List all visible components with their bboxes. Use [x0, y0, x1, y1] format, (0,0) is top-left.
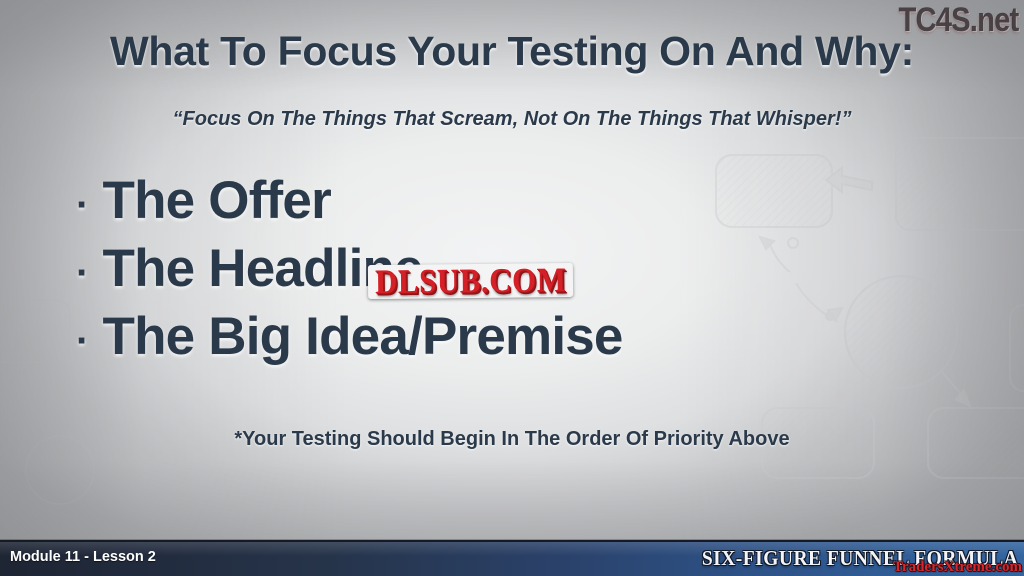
tc4s-watermark: TC4S.net [898, 1, 1018, 40]
list-item-label: The Big Idea/Premise [103, 306, 623, 367]
bullet-dot-icon: · [76, 185, 89, 225]
slide-footnote: *Your Testing Should Begin In The Order … [0, 428, 1024, 451]
module-lesson-label: Module 11 - Lesson 2 [10, 549, 156, 565]
list-item-label: The Offer [103, 170, 331, 231]
bullet-dot-icon: · [76, 253, 89, 293]
list-item: · The Offer [76, 170, 936, 238]
slide-subtitle-quote: “Focus On The Things That Scream, Not On… [0, 108, 1024, 131]
list-item: · The Big Idea/Premise [76, 306, 936, 374]
dlsub-watermark: DLSUB.COM [368, 263, 574, 300]
presentation-slide: What To Focus Your Testing On And Why: “… [0, 0, 1024, 576]
bullet-dot-icon: · [76, 321, 89, 361]
dlsub-watermark-label: DLSUB.COM [375, 263, 567, 298]
page-title: What To Focus Your Testing On And Why: [0, 28, 1024, 75]
tradersxtreme-watermark: TradersXtreme.com [893, 559, 1022, 576]
slide-footer-bar: Module 11 - Lesson 2 SIX-FIGURE FUNNEL F… [0, 540, 1024, 576]
